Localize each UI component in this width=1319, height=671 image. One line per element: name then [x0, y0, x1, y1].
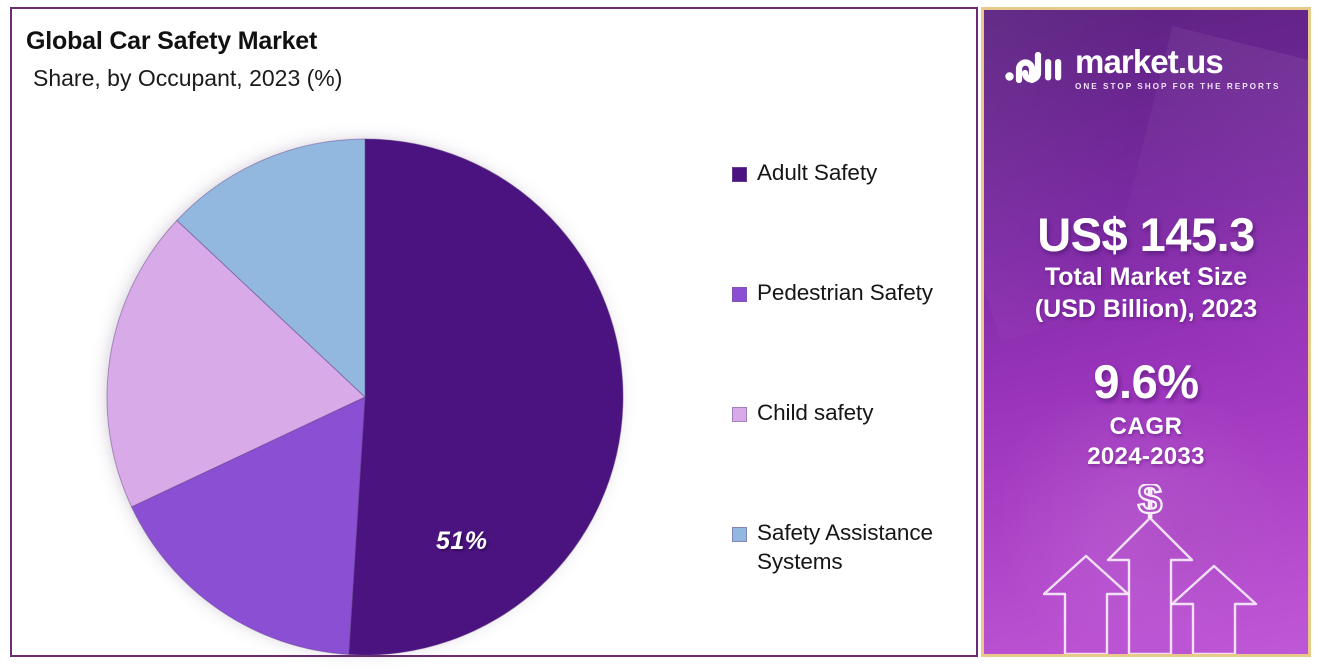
market-size-caption-line2: (USD Billion), 2023 — [992, 295, 1300, 323]
legend-item-safety-assistance-systems[interactable]: Safety Assistance Systems — [732, 519, 972, 577]
legend-label-adult-safety: Adult Safety — [757, 159, 877, 188]
logo-wordmark: market.us — [1075, 45, 1280, 78]
logo-tagline: ONE STOP SHOP FOR THE REPORTS — [1075, 82, 1280, 91]
chart-panel: Global Car Safety Market Share, by Occup… — [10, 7, 978, 657]
legend-swatch-adult-safety-icon — [732, 167, 747, 182]
legend-item-pedestrian-safety[interactable]: Pedestrian Safety — [732, 279, 972, 399]
pie-chart-svg — [100, 132, 630, 662]
chart-title-block: Global Car Safety Market Share, by Occup… — [26, 27, 342, 92]
page-title: Global Car Safety Market — [26, 27, 342, 56]
growth-arrows-icon: $ — [984, 484, 1308, 654]
cagr-block: 9.6% CAGR 2024-2033 — [992, 357, 1300, 470]
dollar-sign-icon: $ — [1138, 484, 1162, 524]
legend-item-adult-safety[interactable]: Adult Safety — [732, 159, 972, 279]
legend-swatch-pedestrian-safety-icon — [732, 287, 747, 302]
legend-label-pedestrian-safety: Pedestrian Safety — [757, 279, 933, 308]
legend-swatch-child-safety-icon — [732, 407, 747, 422]
cagr-label: CAGR — [992, 413, 1300, 441]
cagr-value: 9.6% — [992, 357, 1300, 406]
market-size-value: US$ 145.3 — [992, 210, 1300, 259]
logo-text-block: market.us ONE STOP SHOP FOR THE REPORTS — [1075, 43, 1280, 91]
chart-legend: Adult Safety Pedestrian Safety Child saf… — [732, 159, 972, 577]
pie-slice-label-adult-safety: 51% — [436, 527, 488, 556]
infographic-root: Global Car Safety Market Share, by Occup… — [0, 0, 1319, 671]
legend-swatch-safety-assistance-systems-icon — [732, 527, 747, 542]
legend-label-safety-assistance-systems: Safety Assistance Systems — [757, 519, 972, 577]
legend-label-child-safety: Child safety — [757, 399, 873, 428]
market-us-logo[interactable]: market.us ONE STOP SHOP FOR THE REPORTS — [1004, 43, 1280, 91]
pie-slice-adult-safety[interactable] — [349, 139, 623, 655]
stat-panel: market.us ONE STOP SHOP FOR THE REPORTS … — [981, 7, 1311, 657]
chart-subtitle: Share, by Occupant, 2023 (%) — [33, 65, 342, 92]
stat-main-block: US$ 145.3 Total Market Size (USD Billion… — [984, 210, 1308, 471]
market-size-caption-line1: Total Market Size — [992, 263, 1300, 291]
cagr-period: 2024-2033 — [992, 443, 1300, 471]
pie-chart: 51% — [100, 132, 630, 662]
legend-item-child-safety[interactable]: Child safety — [732, 399, 972, 519]
market-us-bars-icon — [1004, 47, 1066, 87]
